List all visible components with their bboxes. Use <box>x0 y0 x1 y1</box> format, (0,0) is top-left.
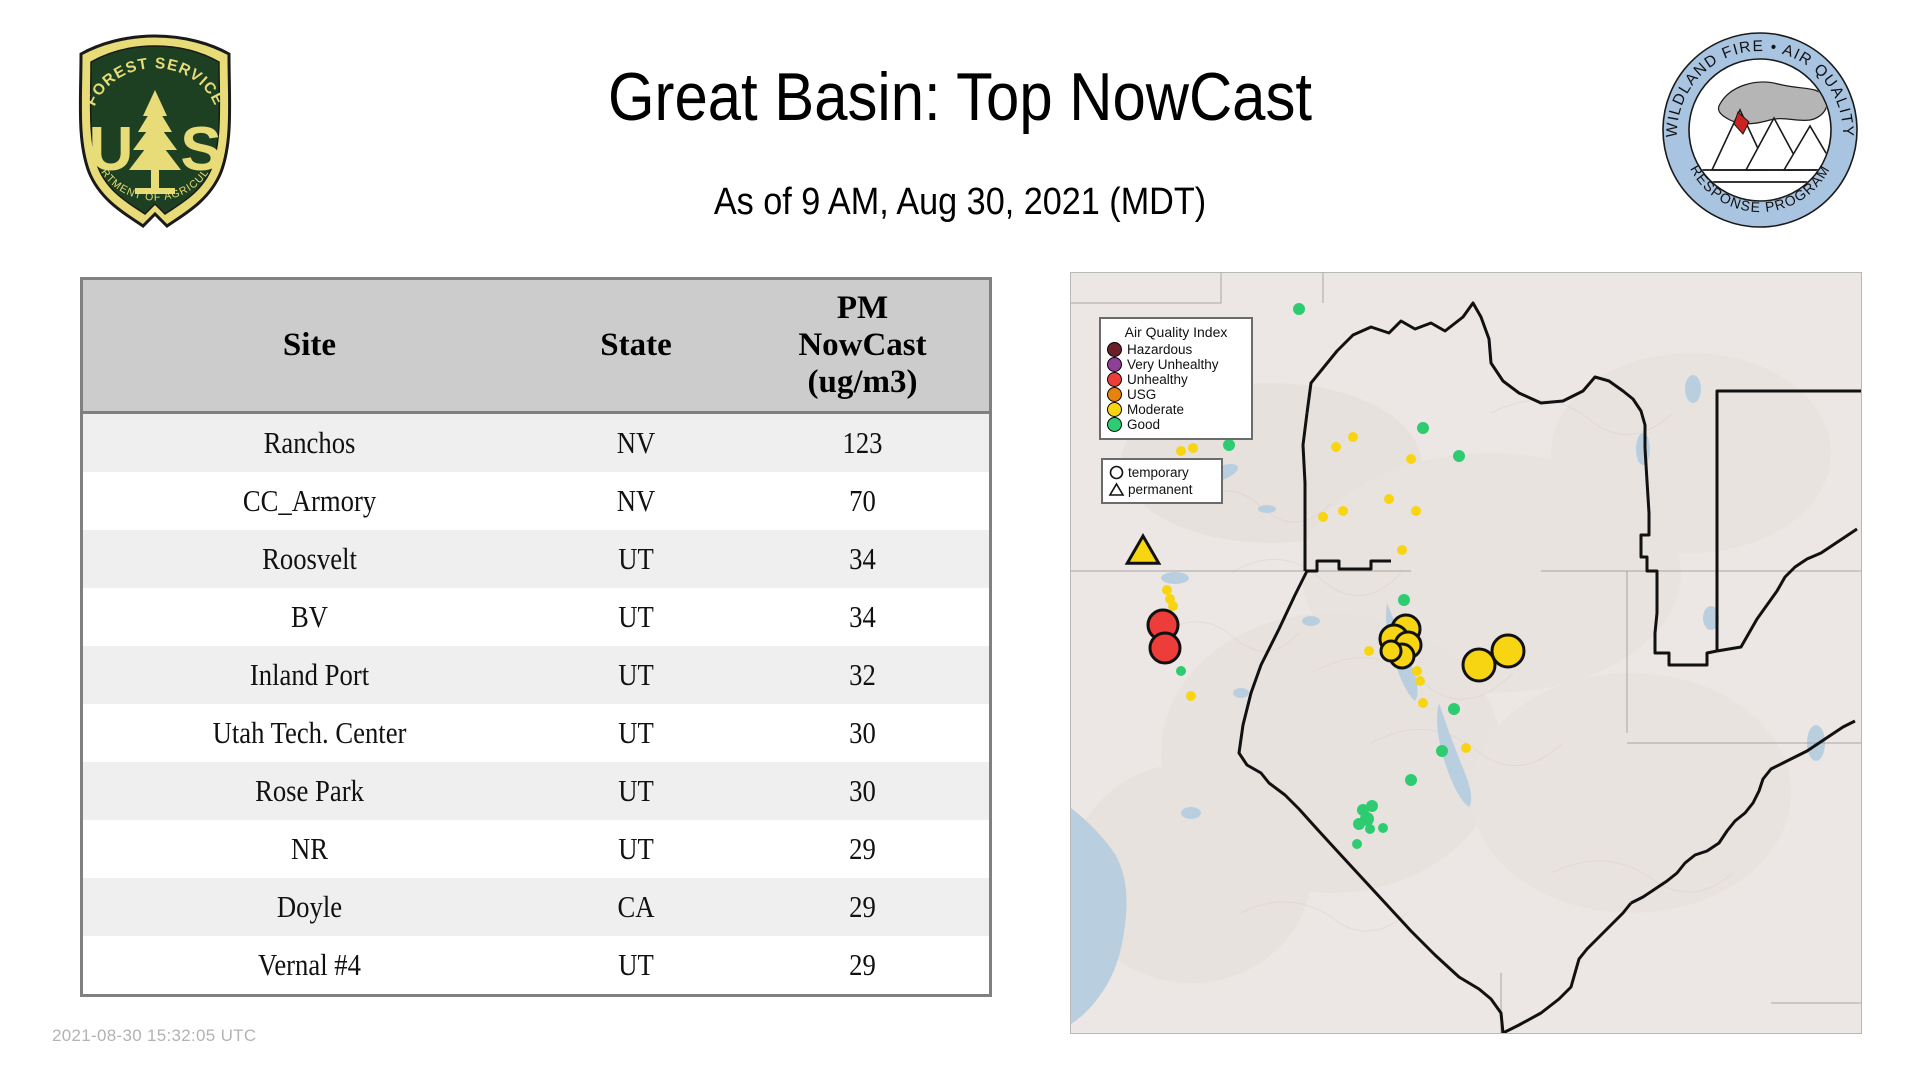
cell-site: Inland Port <box>82 646 537 704</box>
generation-timestamp: 2021-08-30 15:32:05 UTC <box>52 1026 256 1046</box>
map-marker[interactable] <box>1461 743 1471 753</box>
map-marker[interactable] <box>1168 601 1178 611</box>
map-marker[interactable] <box>1378 823 1388 833</box>
aqi-swatch-icon <box>1107 402 1122 417</box>
table-row: Utah Tech. CenterUT30 <box>82 704 991 762</box>
map-marker[interactable] <box>1398 594 1410 606</box>
cell-site: Vernal #4 <box>82 936 537 996</box>
aqi-swatch-icon <box>1107 342 1122 357</box>
cell-pm-value: 34 <box>736 588 991 646</box>
cell-site: CC_Armory <box>82 472 537 530</box>
map-marker[interactable] <box>1412 666 1422 676</box>
map-marker[interactable] <box>1453 450 1465 462</box>
table-row: BVUT34 <box>82 588 991 646</box>
aqi-legend-label: Moderate <box>1127 402 1184 417</box>
cell-site: Rose Park <box>82 762 537 820</box>
map-marker[interactable] <box>1417 422 1429 434</box>
map-marker[interactable] <box>1448 703 1460 715</box>
map-marker[interactable] <box>1162 585 1172 595</box>
map-marker[interactable] <box>1463 649 1495 681</box>
column-header-site: Site <box>82 279 537 413</box>
cell-site: Doyle <box>82 878 537 936</box>
cell-pm-value: 29 <box>736 878 991 936</box>
table-row: RoosveltUT34 <box>82 530 991 588</box>
table-header-row: Site State PM NowCast (ug/m3) <box>82 279 991 413</box>
aqi-legend-row-hazardous: Hazardous <box>1107 342 1245 357</box>
column-header-pm-nowcast: PM NowCast (ug/m3) <box>736 279 991 413</box>
aqi-legend-label: Good <box>1127 417 1160 432</box>
map-marker[interactable] <box>1381 641 1401 661</box>
map-marker[interactable] <box>1436 745 1448 757</box>
legend-row-temporary: temporary <box>1108 464 1216 481</box>
cell-pm-value: 30 <box>736 762 991 820</box>
aqi-legend-label: Hazardous <box>1127 342 1192 357</box>
map-marker[interactable] <box>1352 839 1362 849</box>
map-marker[interactable] <box>1176 666 1186 676</box>
map-marker[interactable] <box>1348 432 1358 442</box>
aqi-legend-row-good: Good <box>1107 417 1245 432</box>
table-row: Inland PortUT32 <box>82 646 991 704</box>
cell-state: NV <box>536 472 736 530</box>
aqi-swatch-icon <box>1107 372 1122 387</box>
map-marker[interactable] <box>1364 646 1374 656</box>
cell-state: UT <box>536 588 736 646</box>
table-row: NRUT29 <box>82 820 991 878</box>
cell-state: CA <box>536 878 736 936</box>
map-marker[interactable] <box>1223 439 1235 451</box>
page-title: Great Basin: Top NowCast <box>467 60 1453 134</box>
map-marker[interactable] <box>1188 443 1198 453</box>
aqi-legend: Air Quality Index HazardousVery Unhealth… <box>1099 317 1253 440</box>
legend-label-permanent: permanent <box>1128 481 1193 498</box>
page-subtitle: As of 9 AM, Aug 30, 2021 (MDT) <box>456 180 1464 224</box>
cell-state: NV <box>536 413 736 473</box>
circle-icon <box>1108 464 1125 481</box>
cell-pm-value: 34 <box>736 530 991 588</box>
aqi-legend-row-moderate: Moderate <box>1107 402 1245 417</box>
cell-site: Utah Tech. Center <box>82 704 537 762</box>
cell-state: UT <box>536 936 736 996</box>
map-marker[interactable] <box>1186 691 1196 701</box>
cell-state: UT <box>536 704 736 762</box>
aqi-legend-row-very-unhealthy: Very Unhealthy <box>1107 357 1245 372</box>
aqi-swatch-icon <box>1107 387 1122 402</box>
map-marker[interactable] <box>1293 303 1305 315</box>
cell-site: Roosvelt <box>82 530 537 588</box>
map-marker[interactable] <box>1353 818 1365 830</box>
map-marker[interactable] <box>1492 635 1524 667</box>
map-marker[interactable] <box>1150 633 1180 663</box>
map-marker[interactable] <box>1418 698 1428 708</box>
cell-state: UT <box>536 530 736 588</box>
map-marker[interactable] <box>1365 824 1375 834</box>
cell-site: Ranchos <box>82 413 537 473</box>
cell-pm-value: 29 <box>736 820 991 878</box>
map-marker[interactable] <box>1384 494 1394 504</box>
table-row: RanchosNV123 <box>82 413 991 473</box>
cell-state: UT <box>536 762 736 820</box>
cell-pm-value: 30 <box>736 704 991 762</box>
cell-state: UT <box>536 646 736 704</box>
aqi-legend-label: USG <box>1127 387 1156 402</box>
legend-label-temporary: temporary <box>1128 464 1189 481</box>
map-marker[interactable] <box>1397 545 1407 555</box>
cell-pm-value: 70 <box>736 472 991 530</box>
column-header-state: State <box>536 279 736 413</box>
table-row: Rose ParkUT30 <box>82 762 991 820</box>
cell-pm-value: 123 <box>736 413 991 473</box>
table-row: Vernal #4UT29 <box>82 936 991 996</box>
map-marker[interactable] <box>1331 442 1341 452</box>
cell-site: BV <box>82 588 537 646</box>
cell-state: UT <box>536 820 736 878</box>
cell-site: NR <box>82 820 537 878</box>
legend-row-permanent: permanent <box>1108 481 1216 498</box>
aqi-swatch-icon <box>1107 357 1122 372</box>
aqi-legend-label: Very Unhealthy <box>1127 357 1219 372</box>
map-marker[interactable] <box>1338 506 1348 516</box>
aqi-legend-row-unhealthy: Unhealthy <box>1107 372 1245 387</box>
map-marker[interactable] <box>1415 676 1425 686</box>
map-marker[interactable] <box>1411 506 1421 516</box>
aqi-legend-label: Unhealthy <box>1127 372 1188 387</box>
aqi-legend-title: Air Quality Index <box>1107 324 1245 340</box>
monitor-type-legend: temporary permanent <box>1101 458 1223 504</box>
map-marker[interactable] <box>1405 774 1417 786</box>
air-quality-map[interactable]: Air Quality Index HazardousVery Unhealth… <box>1070 272 1862 1034</box>
table-row: CC_ArmoryNV70 <box>82 472 991 530</box>
cell-pm-value: 32 <box>736 646 991 704</box>
map-marker[interactable] <box>1366 800 1378 812</box>
top-nowcast-table: Site State PM NowCast (ug/m3) RanchosNV1… <box>80 277 992 997</box>
map-marker[interactable] <box>1318 512 1328 522</box>
aqi-legend-row-usg: USG <box>1107 387 1245 402</box>
aqi-swatch-icon <box>1107 417 1122 432</box>
map-marker[interactable] <box>1176 446 1186 456</box>
map-marker[interactable] <box>1406 454 1416 464</box>
table-row: DoyleCA29 <box>82 878 991 936</box>
triangle-icon <box>1108 481 1125 498</box>
cell-pm-value: 29 <box>736 936 991 996</box>
usfs-shield-logo: FOREST SERVICE U S DEPARTMENT OF AGRICUL… <box>55 30 255 230</box>
wfaqrp-seal-logo: WILDLAND FIRE • AIR QUALITY RESPONSE PRO… <box>1660 30 1860 230</box>
